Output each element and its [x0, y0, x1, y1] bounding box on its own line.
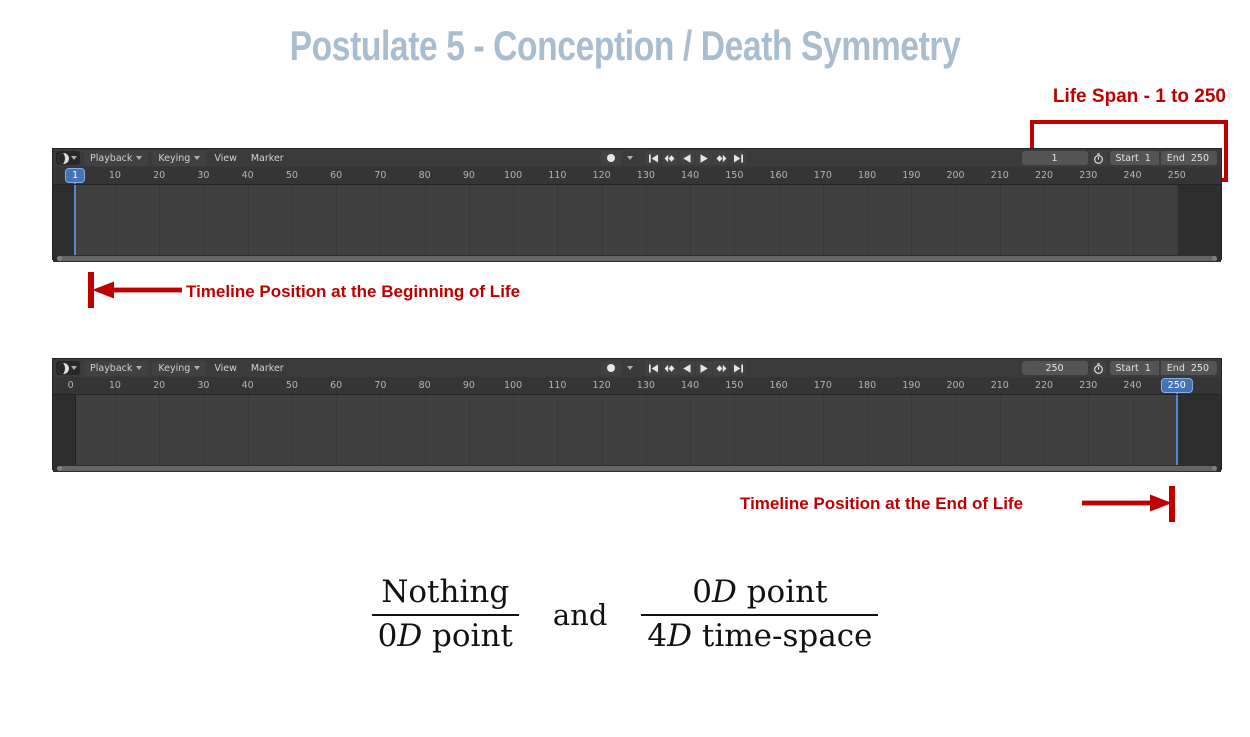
chevron-down-icon [194, 156, 200, 160]
ruler-tick-label: 150 [725, 170, 743, 181]
menu-keying-label: Keying [158, 361, 190, 376]
fraction-right: 0D point 4D time-space [641, 575, 878, 654]
frame-range-controls-top: 1 Start 1 End 250 [1022, 151, 1217, 165]
canvas-gridline [159, 395, 160, 465]
ruler-tick-label: 150 [725, 380, 743, 391]
lifespan-annotation-label: Life Span - 1 to 250 [1053, 86, 1226, 108]
ruler-tick-label: 140 [681, 170, 699, 181]
ruler-tick-label: 200 [946, 170, 964, 181]
play-reverse-button[interactable] [679, 151, 695, 165]
timeline-scrollbar-bottom[interactable] [53, 465, 1221, 472]
timeline-header-bottom: Playback Keying View Marker [53, 359, 1221, 377]
frame-range-group[interactable]: Start 1 End 250 [1110, 361, 1217, 375]
play-button[interactable] [696, 151, 712, 165]
ruler-tick-label: 200 [946, 380, 964, 391]
end-of-life-label: Timeline Position at the End of Life [740, 494, 1023, 514]
ruler-tick-label: 40 [242, 380, 254, 391]
ruler-tick-label: 70 [374, 380, 386, 391]
ruler-tick-label: 180 [858, 380, 876, 391]
canvas-gridline [646, 185, 647, 255]
frame-range-controls-bottom: 250 Start 1 End 250 [1022, 361, 1217, 375]
den-suffix: point [422, 618, 513, 654]
menu-playback-label: Playback [90, 151, 132, 166]
ruler-tick-label: 240 [1123, 380, 1141, 391]
canvas-gridline [779, 395, 780, 465]
canvas-gridline [336, 395, 337, 465]
next-keyframe-button[interactable] [713, 361, 729, 375]
ruler-tick-label: 160 [769, 170, 787, 181]
timeline-header-top: Playback Keying View Marker [53, 149, 1221, 167]
canvas-gridline [602, 185, 603, 255]
canvas-gridline [1133, 185, 1134, 255]
ruler-tick-label: 60 [330, 170, 342, 181]
canvas-gridline [513, 395, 514, 465]
ruler-tick-label: 210 [991, 380, 1009, 391]
editor-type-button[interactable] [56, 151, 80, 165]
stopwatch-icon[interactable] [1091, 361, 1107, 375]
canvas-gridline [956, 395, 957, 465]
ruler-tick-label: 250 [1168, 170, 1186, 181]
den-var: D [667, 618, 692, 654]
canvas-gridline [1044, 185, 1045, 255]
end-of-life-arrow [1082, 494, 1172, 512]
canvas-gridline [425, 395, 426, 465]
ruler-tick-label: 220 [1035, 380, 1053, 391]
den-var: D [397, 618, 422, 654]
ruler-tick-label: 230 [1079, 380, 1097, 391]
auto-keying-options-button[interactable] [623, 151, 637, 165]
record-dot-icon [607, 364, 615, 372]
canvas-gridline [557, 185, 558, 255]
canvas-gridline [336, 185, 337, 255]
chevron-down-icon [627, 156, 633, 160]
canvas-gridline [469, 395, 470, 465]
out-of-range-before [53, 185, 75, 255]
record-dot-icon [607, 154, 615, 162]
ruler-tick-label: 50 [286, 170, 298, 181]
formula-row: Nothing 0D point and 0D point 4D time-sp… [0, 575, 1250, 654]
den-prefix: 0 [378, 618, 398, 654]
canvas-gridline [779, 185, 780, 255]
jump-to-start-button[interactable] [645, 361, 661, 375]
ruler-tick-label: 30 [197, 170, 209, 181]
ruler-tick-label: 10 [109, 170, 121, 181]
clock-icon [58, 363, 69, 374]
canvas-gridline [823, 395, 824, 465]
playback-controls-bottom [601, 361, 746, 375]
canvas-gridline [690, 185, 691, 255]
out-of-range-after [1177, 185, 1221, 255]
ruler-tick-label: 20 [153, 380, 165, 391]
ruler-tick-label: 190 [902, 380, 920, 391]
next-keyframe-button[interactable] [713, 151, 729, 165]
auto-keying-options-button[interactable] [623, 361, 637, 375]
canvas-gridline [380, 395, 381, 465]
ruler-tick-label: 80 [419, 380, 431, 391]
canvas-gridline [1088, 185, 1089, 255]
num-var: D [712, 574, 737, 610]
canvas-gridline [1133, 395, 1134, 465]
menu-marker[interactable]: Marker [245, 151, 290, 166]
play-reverse-button[interactable] [679, 361, 695, 375]
transport-controls [645, 361, 746, 375]
canvas-gridline [823, 185, 824, 255]
timeline-editor-top[interactable]: Playback Keying View Marker [52, 148, 1222, 260]
timeline-editor-bottom[interactable]: Playback Keying View Marker [52, 358, 1222, 470]
canvas-gridline [292, 185, 293, 255]
page-title: Postulate 5 - Conception / Death Symmetr… [125, 22, 1125, 70]
canvas-gridline [115, 185, 116, 255]
menu-view[interactable]: View [208, 151, 243, 166]
ruler-tick-label: 220 [1035, 170, 1053, 181]
canvas-gridline [469, 185, 470, 255]
canvas-gridline [248, 395, 249, 465]
ruler-tick-label: 160 [769, 380, 787, 391]
canvas-gridline [1044, 395, 1045, 465]
ruler-tick-label: 190 [902, 170, 920, 181]
den-suffix: time-space [692, 618, 872, 654]
canvas-gridline [115, 395, 116, 465]
stopwatch-icon[interactable] [1091, 151, 1107, 165]
timeline-ruler-top[interactable]: 1020304050607080901001101201301401501601… [53, 167, 1221, 185]
scrollbar-thumb[interactable] [57, 466, 1217, 471]
ruler-tick-label: 100 [504, 380, 522, 391]
ruler-tick-label: 0 [68, 380, 74, 391]
fraction-left-bar [372, 614, 519, 616]
jump-to-start-button[interactable] [645, 151, 661, 165]
timeline-scrollbar-top[interactable] [53, 255, 1221, 262]
canvas-gridline [248, 185, 249, 255]
chevron-down-icon [71, 156, 77, 160]
canvas-gridline [646, 395, 647, 465]
scrollbar-thumb[interactable] [57, 256, 1217, 261]
previous-keyframe-button[interactable] [662, 361, 678, 375]
menu-marker[interactable]: Marker [245, 361, 290, 376]
menu-keying-label: Keying [158, 151, 190, 166]
canvas-gridline [1177, 185, 1178, 255]
start-frame-value[interactable]: 1 [1142, 151, 1159, 165]
ruler-tick-label: 210 [991, 170, 1009, 181]
chevron-down-icon [136, 366, 142, 370]
ruler-tick-label: 40 [242, 170, 254, 181]
ruler-tick-label: 70 [374, 170, 386, 181]
canvas-gridline [557, 395, 558, 465]
ruler-tick-label: 170 [814, 380, 832, 391]
chevron-down-icon [136, 156, 142, 160]
canvas-gridline [513, 185, 514, 255]
editor-type-button[interactable] [56, 361, 80, 375]
ruler-tick-label: 120 [593, 380, 611, 391]
formula-conjunction: and [553, 598, 608, 632]
menu-keying[interactable]: Keying [152, 361, 206, 376]
jump-to-end-button[interactable] [730, 361, 746, 375]
end-frame-value[interactable]: 250 [1188, 151, 1217, 165]
ruler-tick-label: 130 [637, 380, 655, 391]
fraction-left-denominator: 0D point [372, 619, 519, 655]
canvas-gridline [956, 185, 957, 255]
fraction-right-denominator: 4D time-space [641, 619, 878, 655]
play-button[interactable] [696, 361, 712, 375]
ruler-tick-label: 120 [593, 170, 611, 181]
end-frame-value[interactable]: 250 [1188, 361, 1217, 375]
auto-keying-record-button[interactable] [601, 151, 621, 165]
num-suffix: point [737, 574, 828, 610]
ruler-tick-label: 230 [1079, 170, 1097, 181]
canvas-gridline [911, 185, 912, 255]
canvas-gridline [159, 185, 160, 255]
ruler-tick-label: 110 [548, 380, 566, 391]
canvas-gridline [911, 395, 912, 465]
ruler-tick-label: 90 [463, 170, 475, 181]
canvas-gridline [425, 185, 426, 255]
ruler-tick-label: 100 [504, 170, 522, 181]
playback-controls-top [601, 151, 746, 165]
range-start-edge [75, 395, 76, 465]
ruler-tick-label: 240 [1123, 170, 1141, 181]
start-frame-label: Start [1110, 151, 1142, 165]
canvas-gridline [734, 395, 735, 465]
chevron-down-icon [627, 366, 633, 370]
playhead-frame-badge[interactable]: 1 [65, 168, 85, 183]
ruler-tick-label: 60 [330, 380, 342, 391]
ruler-tick-label: 180 [858, 170, 876, 181]
canvas-gridline [1000, 395, 1001, 465]
canvas-gridline [380, 185, 381, 255]
ruler-tick-label: 20 [153, 170, 165, 181]
canvas-gridline [292, 395, 293, 465]
ruler-tick-label: 130 [637, 170, 655, 181]
den-prefix: 4 [647, 618, 667, 654]
end-frame-label: End [1161, 151, 1188, 165]
fraction-right-numerator: 0D point [686, 575, 833, 611]
start-frame-label: Start [1110, 361, 1142, 375]
auto-keying-record-button[interactable] [601, 361, 621, 375]
canvas-gridline [867, 185, 868, 255]
ruler-tick-label: 170 [814, 170, 832, 181]
timeline-canvas-top[interactable] [53, 185, 1221, 255]
beginning-of-life-arrow [92, 281, 182, 299]
end-frame-label: End [1161, 361, 1188, 375]
ruler-tick-label: 110 [548, 170, 566, 181]
canvas-gridline [734, 185, 735, 255]
playhead-line[interactable] [1176, 395, 1178, 465]
start-frame-value[interactable]: 1 [1142, 361, 1159, 375]
current-frame-field[interactable]: 250 [1022, 361, 1088, 375]
previous-keyframe-button[interactable] [662, 151, 678, 165]
canvas-gridline [690, 395, 691, 465]
ruler-tick-label: 140 [681, 380, 699, 391]
menu-view[interactable]: View [208, 361, 243, 376]
end-of-life-marker-bar [1169, 486, 1175, 522]
menu-playback-label: Playback [90, 361, 132, 376]
canvas-gridline [867, 395, 868, 465]
beginning-of-life-label: Timeline Position at the Beginning of Li… [186, 282, 520, 302]
menu-keying[interactable]: Keying [152, 151, 206, 166]
canvas-gridline [1000, 185, 1001, 255]
canvas-gridline [1088, 395, 1089, 465]
timeline-canvas-bottom[interactable] [53, 395, 1221, 465]
canvas-gridline [203, 395, 204, 465]
fraction-right-bar [641, 614, 878, 616]
ruler-tick-label: 80 [419, 170, 431, 181]
jump-to-end-button[interactable] [730, 151, 746, 165]
canvas-gridline [602, 395, 603, 465]
ruler-tick-label: 30 [197, 380, 209, 391]
frame-range-group[interactable]: Start 1 End 250 [1110, 151, 1217, 165]
chevron-down-icon [71, 366, 77, 370]
out-of-range-before [53, 395, 75, 465]
ruler-tick-label: 50 [286, 380, 298, 391]
out-of-range-after [1177, 395, 1221, 465]
ruler-tick-label: 10 [109, 380, 121, 391]
fraction-left: Nothing 0D point [372, 575, 519, 654]
playhead-frame-badge[interactable]: 250 [1161, 378, 1193, 393]
fraction-left-numerator: Nothing [375, 575, 515, 611]
menu-playback[interactable]: Playback [84, 361, 148, 376]
transport-controls [645, 151, 746, 165]
playhead-line[interactable] [74, 185, 76, 255]
ruler-tick-label: 90 [463, 380, 475, 391]
timeline-ruler-bottom[interactable]: 0102030405060708090100110120130140150160… [53, 377, 1221, 395]
chevron-down-icon [194, 366, 200, 370]
menu-playback[interactable]: Playback [84, 151, 148, 166]
clock-icon [58, 153, 69, 164]
canvas-gridline [203, 185, 204, 255]
num-prefix: 0 [692, 574, 712, 610]
current-frame-field[interactable]: 1 [1022, 151, 1088, 165]
